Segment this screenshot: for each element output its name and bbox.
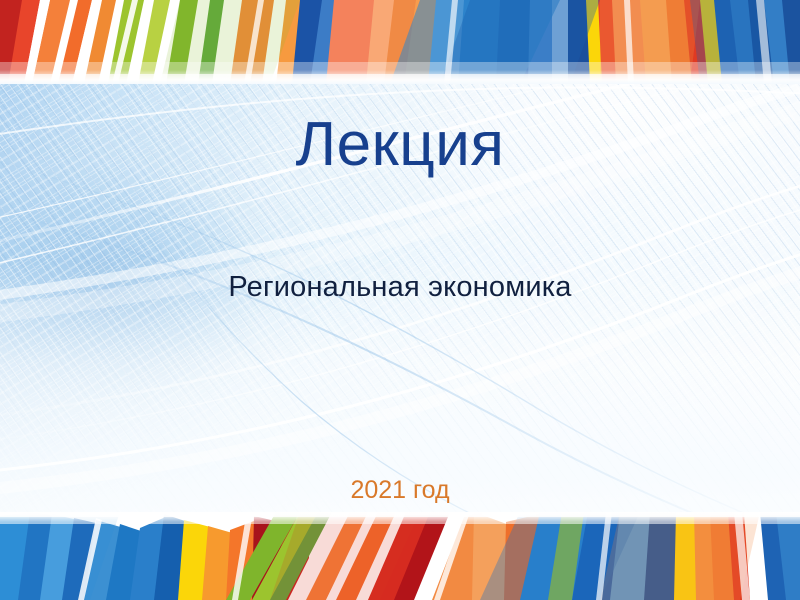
- slide-year: 2021 год: [0, 475, 800, 505]
- slide-title: Лекция: [0, 112, 800, 177]
- decorative-border-top: [0, 0, 800, 84]
- prism-pattern-bottom: [0, 512, 800, 600]
- decorative-border-bottom: [0, 512, 800, 600]
- prism-pattern-top: [0, 0, 800, 84]
- presentation-slide: Лекция Региональная экономика 2021 год: [0, 0, 800, 600]
- slide-subtitle: Региональная экономика: [0, 270, 800, 305]
